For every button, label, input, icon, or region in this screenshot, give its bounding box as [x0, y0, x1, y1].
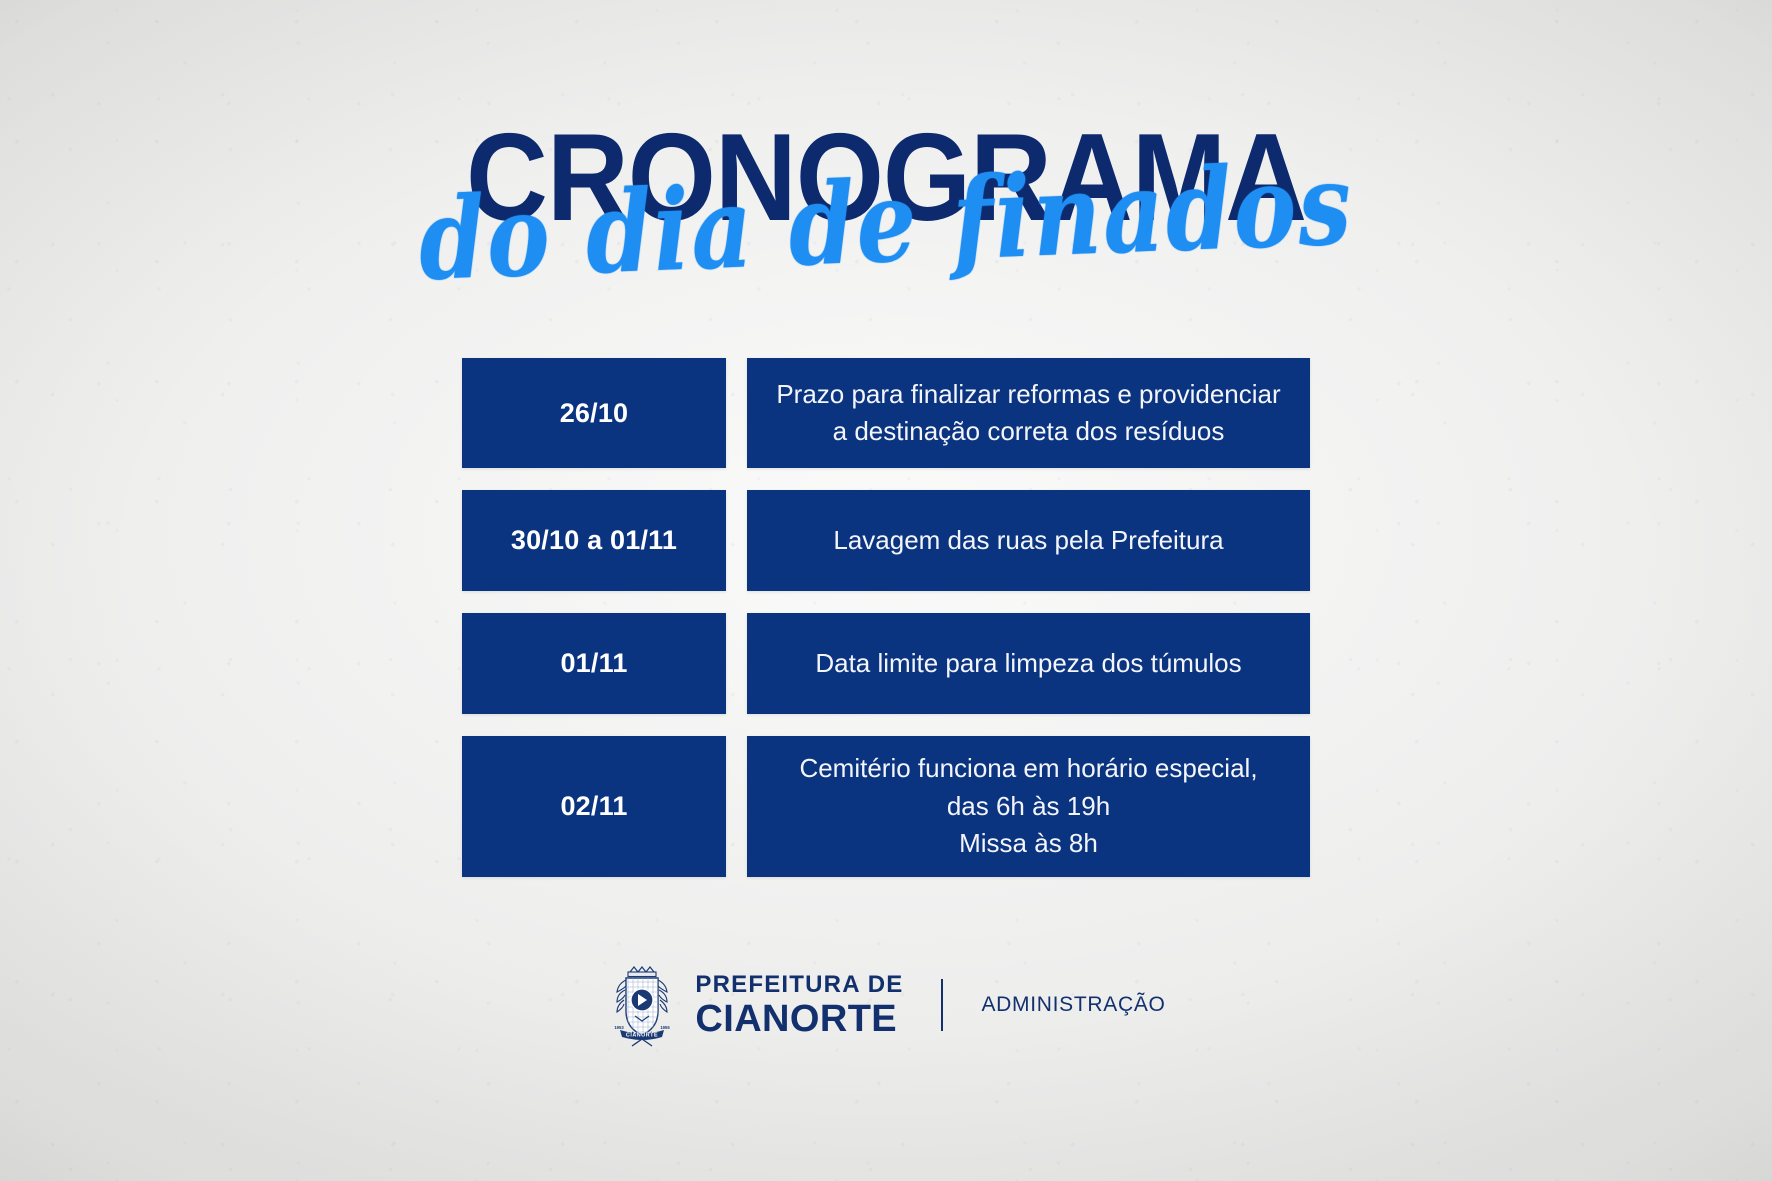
brand-divider — [941, 979, 943, 1031]
description-line: Cemitério funciona em horário especial, — [799, 750, 1257, 787]
schedule-table: 26/10 Prazo para finalizar reformas e pr… — [462, 358, 1310, 877]
description-line: Prazo para finalizar reformas e providen… — [776, 376, 1280, 413]
title-block: CRONOGRAMA do dia de finados — [0, 118, 1772, 221]
poster-canvas: CRONOGRAMA do dia de finados 26/10 Prazo… — [0, 0, 1772, 1181]
table-row: 30/10 a 01/11 Lavagem das ruas pela Pref… — [462, 490, 1310, 591]
brand-city: CIANORTE — [695, 1000, 903, 1038]
schedule-date-cell: 01/11 — [462, 613, 726, 714]
schedule-date-cell: 30/10 a 01/11 — [462, 490, 726, 591]
crest-year-right: 1955 — [661, 1025, 671, 1030]
description-line: Lavagem das ruas pela Prefeitura — [833, 522, 1223, 559]
table-row: 26/10 Prazo para finalizar reformas e pr… — [462, 358, 1310, 468]
brand-wordmark: PREFEITURA DE CIANORTE — [695, 973, 903, 1038]
crest-city-label: CIANORTE — [626, 1032, 658, 1038]
schedule-description-cell: Lavagem das ruas pela Prefeitura — [747, 490, 1310, 591]
schedule-date-cell: 26/10 — [462, 358, 726, 468]
coat-of-arms-icon: CIANORTE 1953 1955 — [606, 960, 678, 1050]
brand-prefix: PREFEITURA DE — [695, 973, 903, 997]
description-line: das 6h às 19h — [799, 788, 1257, 825]
description-line: a destinação correta dos resíduos — [776, 413, 1280, 450]
description-line: Data limite para limpeza dos túmulos — [815, 645, 1241, 682]
table-row: 01/11 Data limite para limpeza dos túmul… — [462, 613, 1310, 714]
footer-branding: CIANORTE 1953 1955 PREFEITURA DE CIANORT… — [0, 960, 1772, 1050]
schedule-date-cell: 02/11 — [462, 736, 726, 877]
department-label: ADMINISTRAÇÃO — [981, 993, 1165, 1017]
schedule-description-cell: Cemitério funciona em horário especial, … — [747, 736, 1310, 877]
table-row: 02/11 Cemitério funciona em horário espe… — [462, 736, 1310, 877]
schedule-description-cell: Data limite para limpeza dos túmulos — [747, 613, 1310, 714]
description-line: Missa às 8h — [799, 825, 1257, 862]
schedule-description-cell: Prazo para finalizar reformas e providen… — [747, 358, 1310, 468]
crest-year-left: 1953 — [615, 1025, 625, 1030]
